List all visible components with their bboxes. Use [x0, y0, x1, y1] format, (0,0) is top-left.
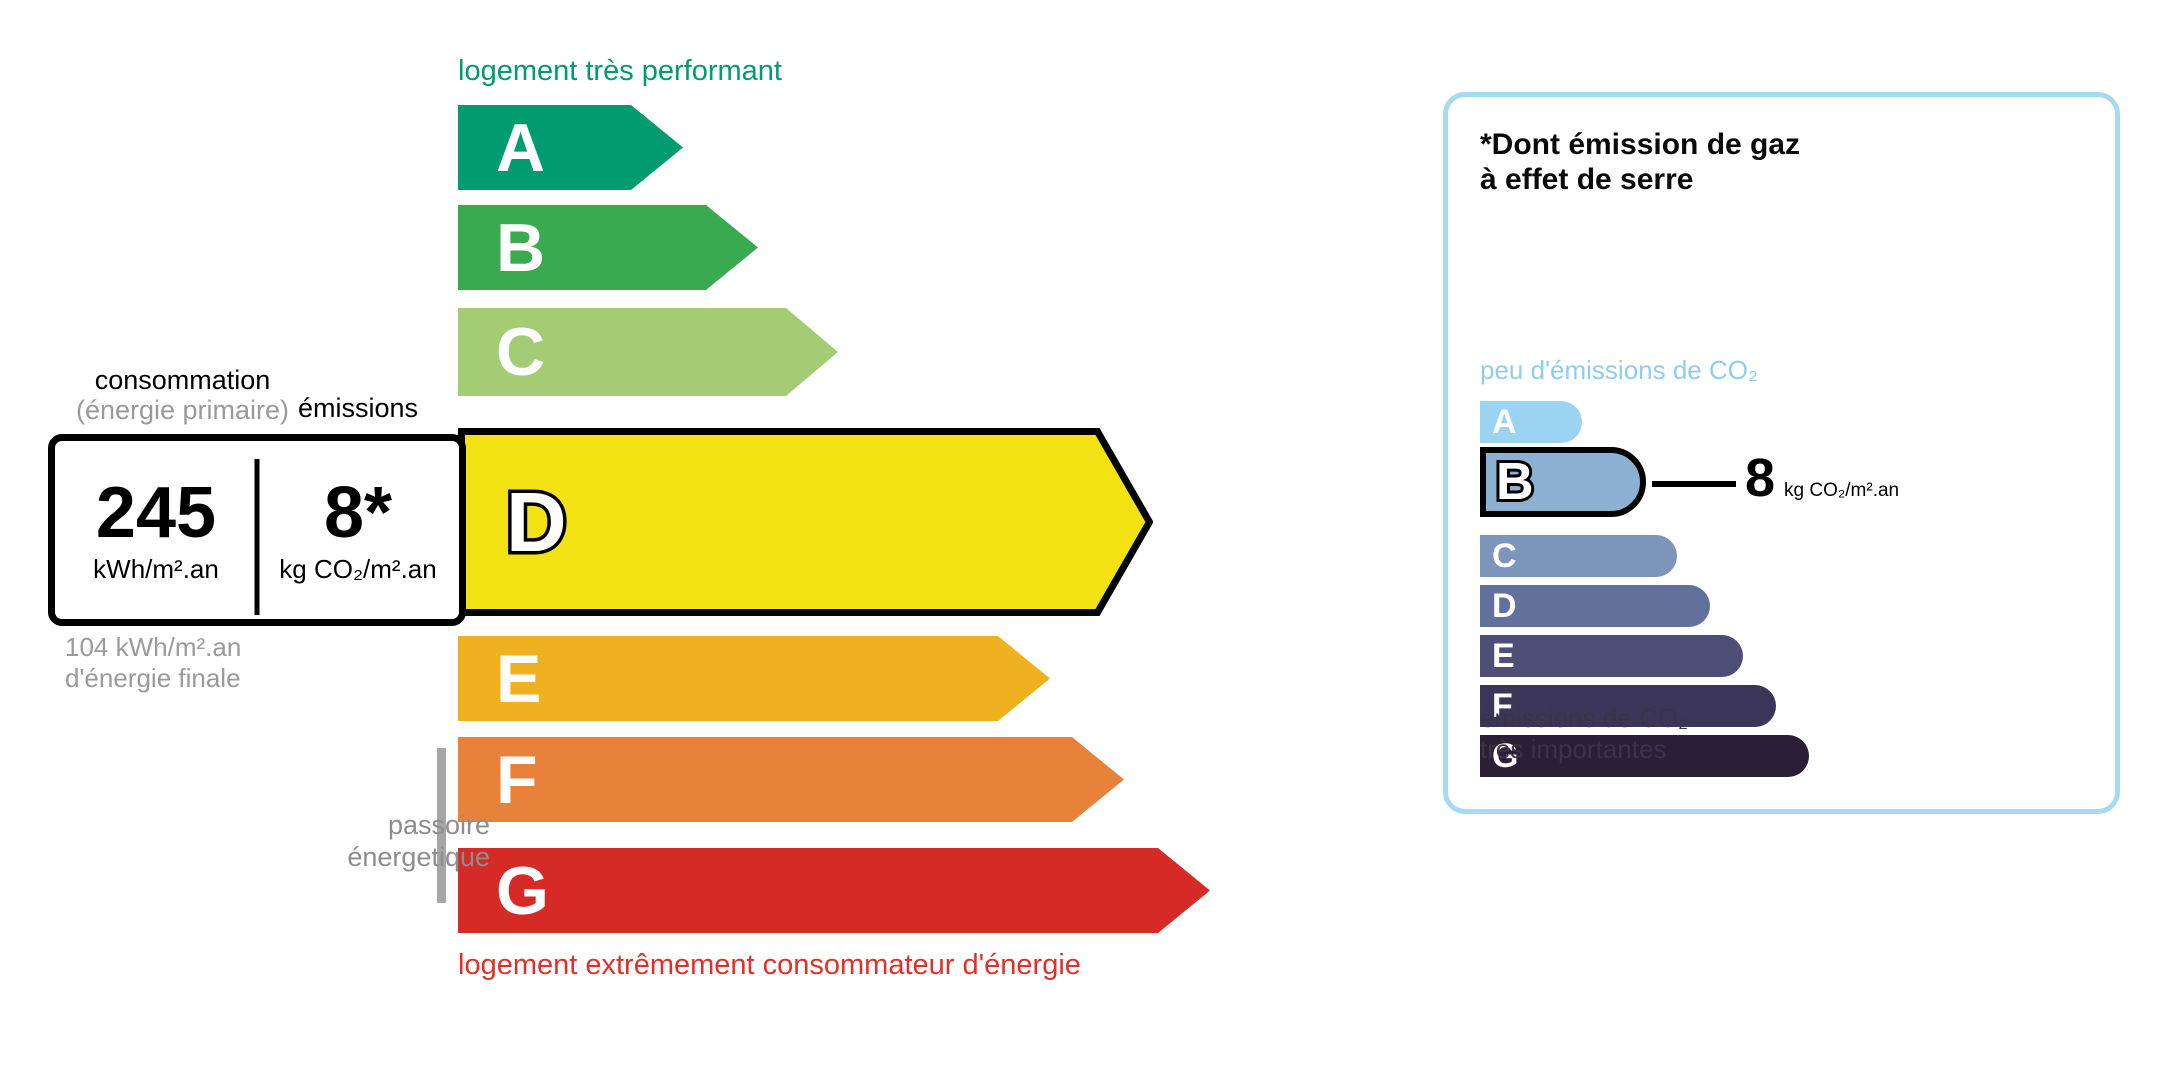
- co2-title-line2: à effet de serre: [1480, 163, 1693, 196]
- consumption-header: consommation (énergie primaire): [50, 365, 315, 425]
- co2-leader-line: [1652, 481, 1736, 487]
- co2-value-number: 8: [1745, 451, 1775, 505]
- energy-band-f: F: [458, 737, 1124, 822]
- energy-band-letter-d: D: [506, 480, 567, 564]
- consumption-value-cell: 245 kWh/m².an: [55, 441, 257, 619]
- energy-band-e: E: [458, 636, 1050, 721]
- energy-band-g: G: [458, 848, 1210, 933]
- energy-band-letter-c: C: [496, 318, 545, 386]
- co2-band-letter-d: D: [1492, 589, 1517, 623]
- value-box: 245 kWh/m².an 8* kg CO₂/m².an: [48, 434, 466, 626]
- consumption-value: 245: [96, 478, 216, 549]
- passoire-label-line1: passoire: [388, 810, 490, 840]
- co2-band-letter-c: C: [1492, 539, 1517, 573]
- emission-value: 8*: [324, 478, 392, 549]
- co2-band-letter-b: B: [1496, 456, 1534, 508]
- co2-band-bar-e: [1480, 635, 1743, 677]
- emissions-header: émissions: [298, 393, 418, 424]
- co2-title-line1: *Dont émission de gaz: [1480, 128, 1800, 161]
- energy-band-a: A: [458, 105, 683, 190]
- emission-unit: kg CO₂/m².an: [279, 556, 436, 582]
- co2-value-unit: kg CO₂/m².an: [1784, 480, 1899, 502]
- energy-band-arrow-f: [458, 737, 1124, 822]
- co2-bottom-caption: émissions de CO₂ très importantes: [1480, 703, 1688, 764]
- consumption-header-sub: (énergie primaire): [50, 395, 315, 425]
- energy-band-arrow-a: [458, 105, 683, 190]
- co2-band-d: D: [1480, 585, 1900, 627]
- final-energy-note-line1: 104 kWh/m².an: [65, 632, 241, 662]
- co2-panel-title: *Dont émission de gaz à effet de serre: [1480, 127, 1800, 198]
- energy-band-letter-a: A: [496, 114, 545, 182]
- energy-band-letter-g: G: [496, 857, 549, 925]
- energy-bottom-caption: logement extrêmement consommateur d'éner…: [458, 949, 1081, 982]
- co2-band-b: B8kg CO₂/m².an: [1480, 447, 1900, 517]
- energy-band-c: C: [458, 308, 838, 396]
- energy-top-caption: logement très performant: [458, 55, 782, 88]
- co2-band-a: A: [1480, 401, 1900, 443]
- co2-band-c: C: [1480, 535, 1900, 577]
- co2-panel: *Dont émission de gaz à effet de serre p…: [1443, 92, 2120, 814]
- energy-band-letter-b: B: [496, 214, 545, 282]
- energy-band-d: D: [458, 428, 1153, 616]
- passoire-label: passoire énergetique: [200, 810, 490, 874]
- emission-value-cell: 8* kg CO₂/m².an: [257, 441, 459, 619]
- energy-band-letter-e: E: [496, 645, 541, 713]
- energy-band-arrow-e: [458, 636, 1050, 721]
- energy-band-b: B: [458, 205, 758, 290]
- co2-top-caption: peu d'émissions de CO₂: [1480, 355, 1758, 386]
- final-energy-note-line2: d'énergie finale: [65, 663, 241, 693]
- co2-value-readout: 8kg CO₂/m².an: [1745, 451, 1899, 505]
- energy-band-arrow-g: [458, 848, 1210, 933]
- co2-band-letter-a: A: [1492, 405, 1517, 439]
- energy-performance-panel: logement très performant ABCDEFG passoir…: [0, 0, 1300, 1079]
- co2-bottom-caption-line2: très importantes: [1480, 734, 1666, 764]
- co2-bottom-caption-line1: émissions de CO₂: [1480, 703, 1688, 733]
- consumption-unit: kWh/m².an: [93, 556, 219, 582]
- dpe-diagram: logement très performant ABCDEFG passoir…: [0, 0, 2170, 1079]
- co2-band-letter-e: E: [1492, 639, 1515, 673]
- co2-band-e: E: [1480, 635, 1900, 677]
- final-energy-note: 104 kWh/m².an d'énergie finale: [65, 632, 241, 693]
- energy-band-letter-f: F: [496, 746, 538, 814]
- consumption-header-main: consommation: [95, 365, 271, 395]
- passoire-label-line2: énergetique: [347, 842, 490, 872]
